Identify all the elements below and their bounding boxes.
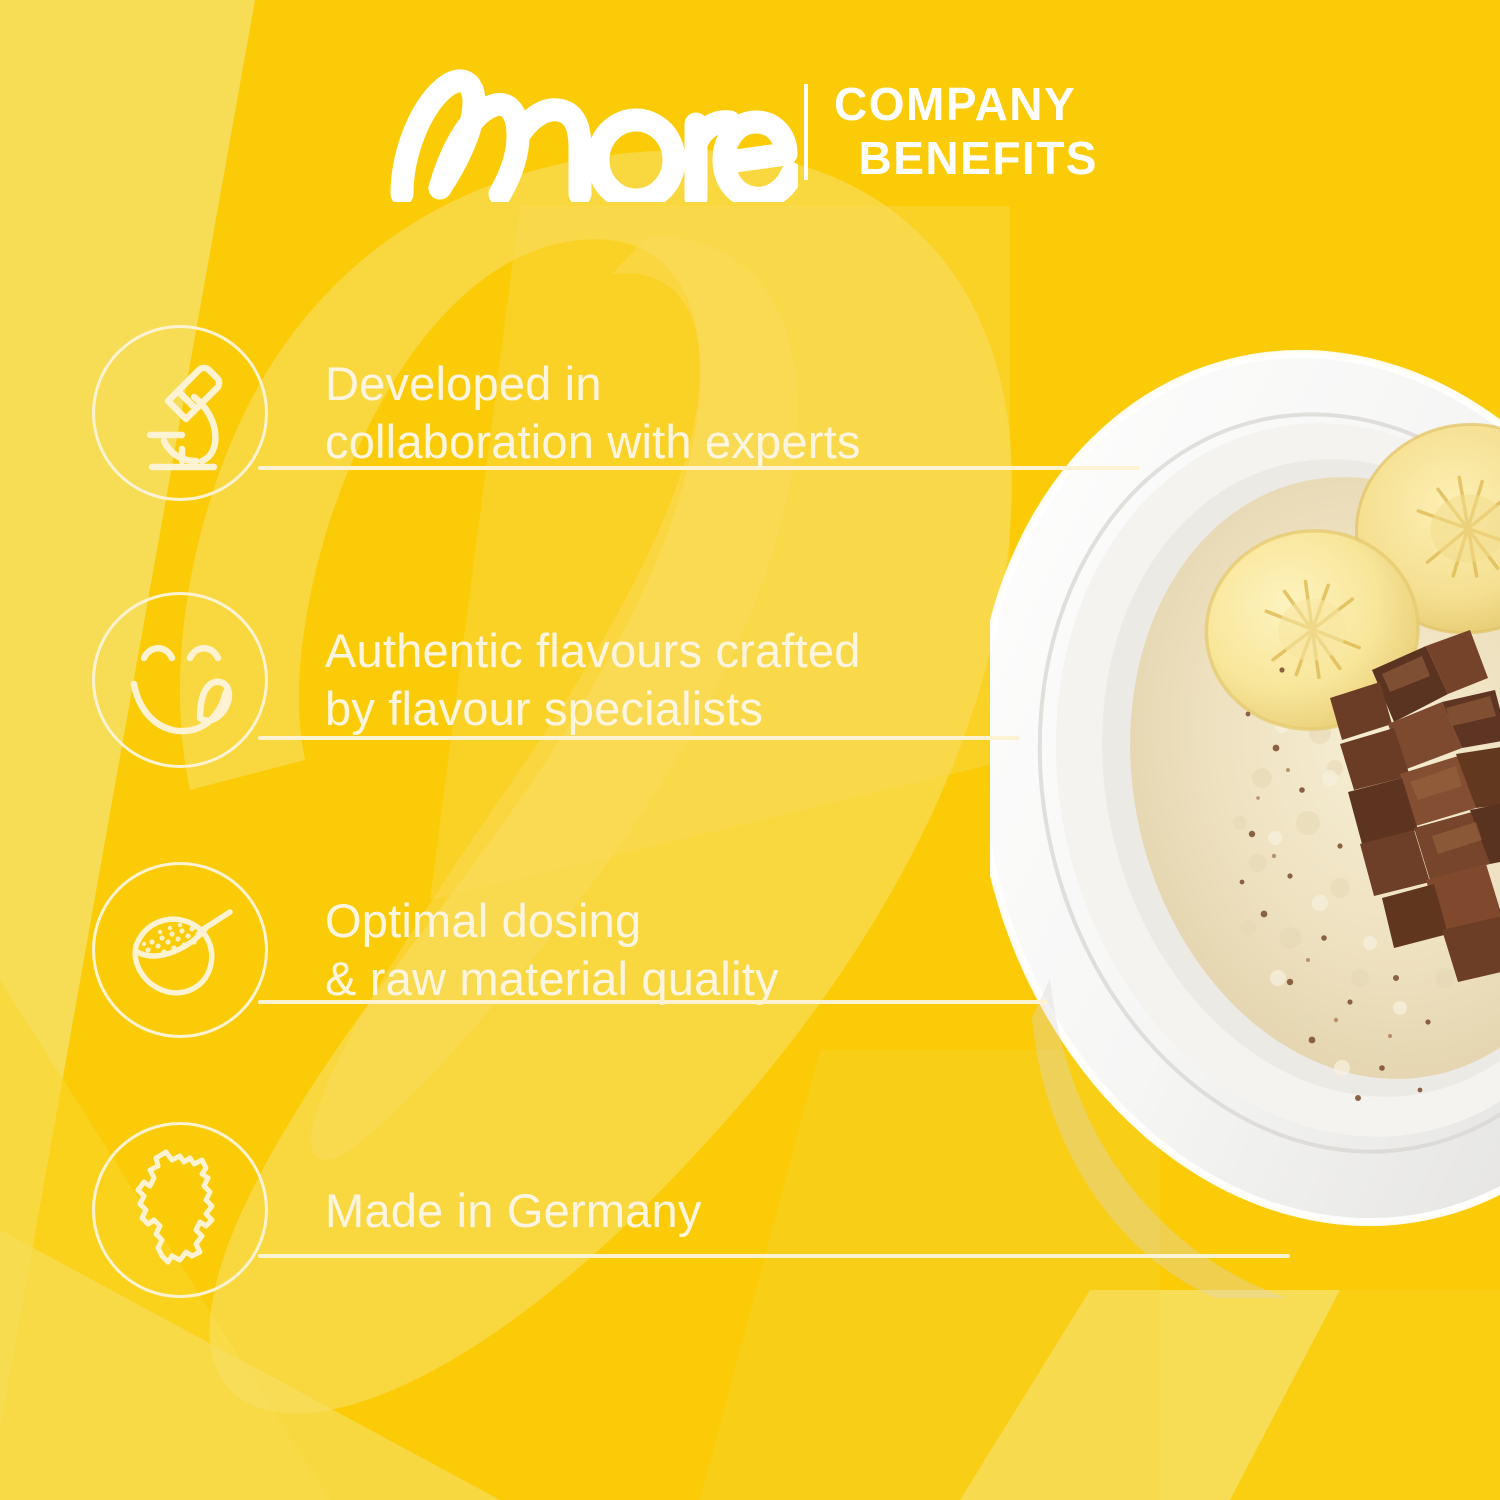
benefit-label: Developed in collaboration with experts (325, 355, 861, 471)
measuring-scoop-grain-icon (92, 862, 268, 1038)
benefit-divider-1 (258, 466, 1140, 470)
benefit-item-optimal-dosing: Optimal dosing & raw material quality (92, 862, 779, 1038)
benefit-label: Optimal dosing & raw material quality (325, 892, 779, 1008)
benefit-divider-2 (258, 736, 1020, 740)
header-title: COMPANY BENEFITS (834, 78, 1098, 186)
germany-map-icon (92, 1122, 268, 1298)
benefit-item-made-in-germany: Made in Germany (92, 1122, 702, 1298)
benefit-divider-4 (258, 1254, 1290, 1258)
more-logo-wordmark (378, 62, 798, 202)
header-title-line-2: BENEFITS (859, 132, 1098, 186)
benefits-list: Developed in collaboration with experts … (0, 0, 1500, 1500)
header-divider (804, 84, 808, 180)
benefit-item-authentic-flavours: Authentic flavours crafted by flavour sp… (92, 592, 861, 768)
benefit-label: Made in Germany (325, 1182, 702, 1240)
header: COMPANY BENEFITS (378, 62, 1098, 202)
benefit-divider-3 (258, 1000, 1048, 1004)
microscope-icon (92, 325, 268, 501)
header-title-line-1: COMPANY (834, 78, 1076, 132)
smiley-tongue-icon (92, 592, 268, 768)
benefit-item-developed-with-experts: Developed in collaboration with experts (92, 325, 861, 501)
benefit-label: Authentic flavours crafted by flavour sp… (325, 622, 861, 738)
